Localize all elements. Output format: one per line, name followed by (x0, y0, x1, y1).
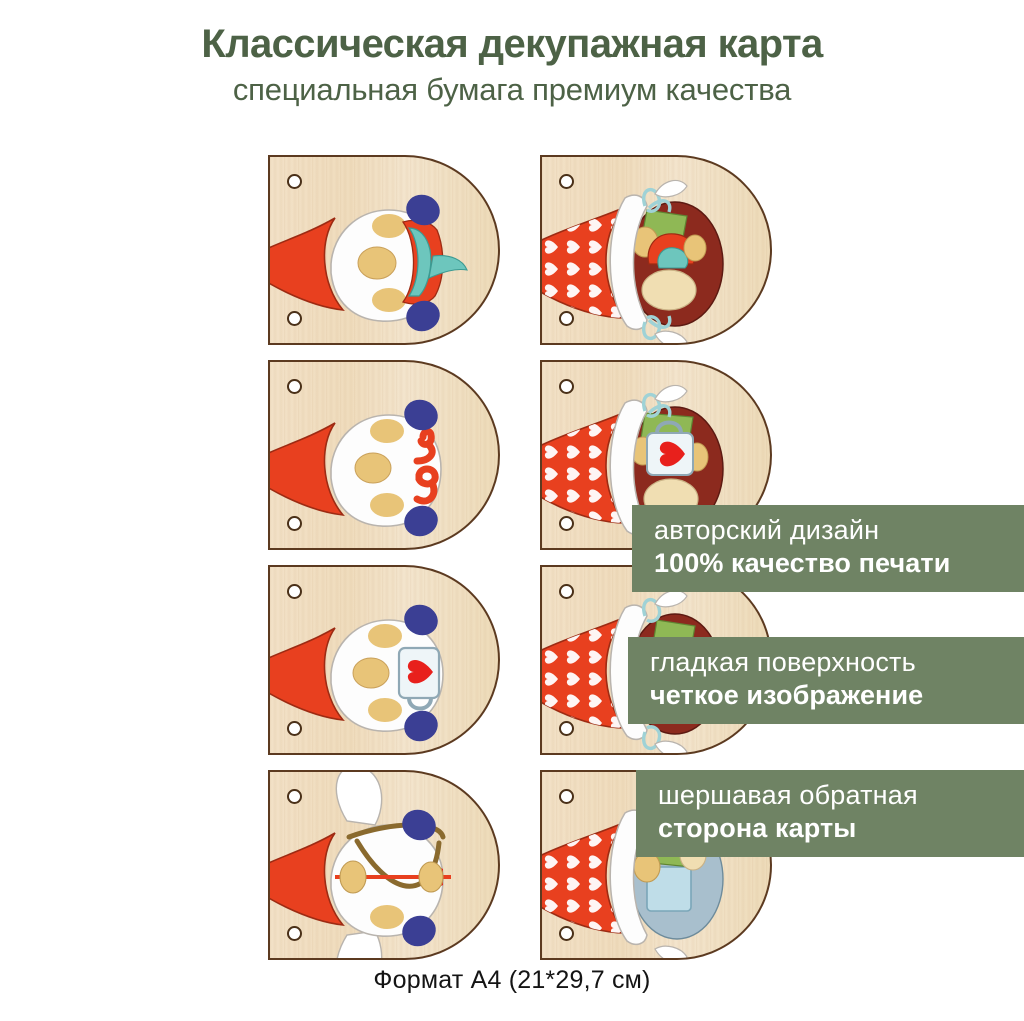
feature-badge-reverse-side: шершавая обратная сторона карты (636, 770, 1024, 857)
format-label: Формат A4 (21*29,7 см) (373, 966, 650, 994)
wooden-tag-surface (540, 155, 772, 345)
footer: Формат A4 (21*29,7 см) (0, 966, 1024, 995)
tag-row4-col1 (268, 770, 500, 960)
gnome-red-hat-heart-mug-illustration (270, 567, 500, 755)
tag-row3-col1 (268, 565, 500, 755)
feature-badge-design: авторский дизайн 100% качество печати (632, 505, 1024, 592)
gnome-cupid-wings-bow-illustration (270, 772, 500, 960)
badge-line-1: гладкая поверхность (650, 646, 1010, 679)
badge-line-2: четкое изображение (650, 679, 1010, 712)
wooden-tag-surface (268, 360, 500, 550)
badge-line-2: 100% качество печати (654, 547, 1010, 580)
wooden-tag-surface (268, 770, 500, 960)
gnome-red-hat-love-illustration (270, 362, 500, 550)
gnome-polkadot-hat-gifts-illustration (542, 157, 772, 345)
wooden-tag-surface (268, 155, 500, 345)
badge-line-2: сторона карты (658, 812, 1010, 845)
feature-badge-surface: гладкая поверхность четкое изображение (628, 637, 1024, 724)
badge-line-1: шершавая обратная (658, 779, 1010, 812)
wooden-tag-surface (268, 565, 500, 755)
tag-row1-col1 (268, 155, 500, 345)
tag-row1-col2 (540, 155, 772, 345)
gnome-red-hat-scarf-illustration (270, 157, 500, 345)
tag-row2-col1 (268, 360, 500, 550)
badge-line-1: авторский дизайн (654, 514, 1010, 547)
